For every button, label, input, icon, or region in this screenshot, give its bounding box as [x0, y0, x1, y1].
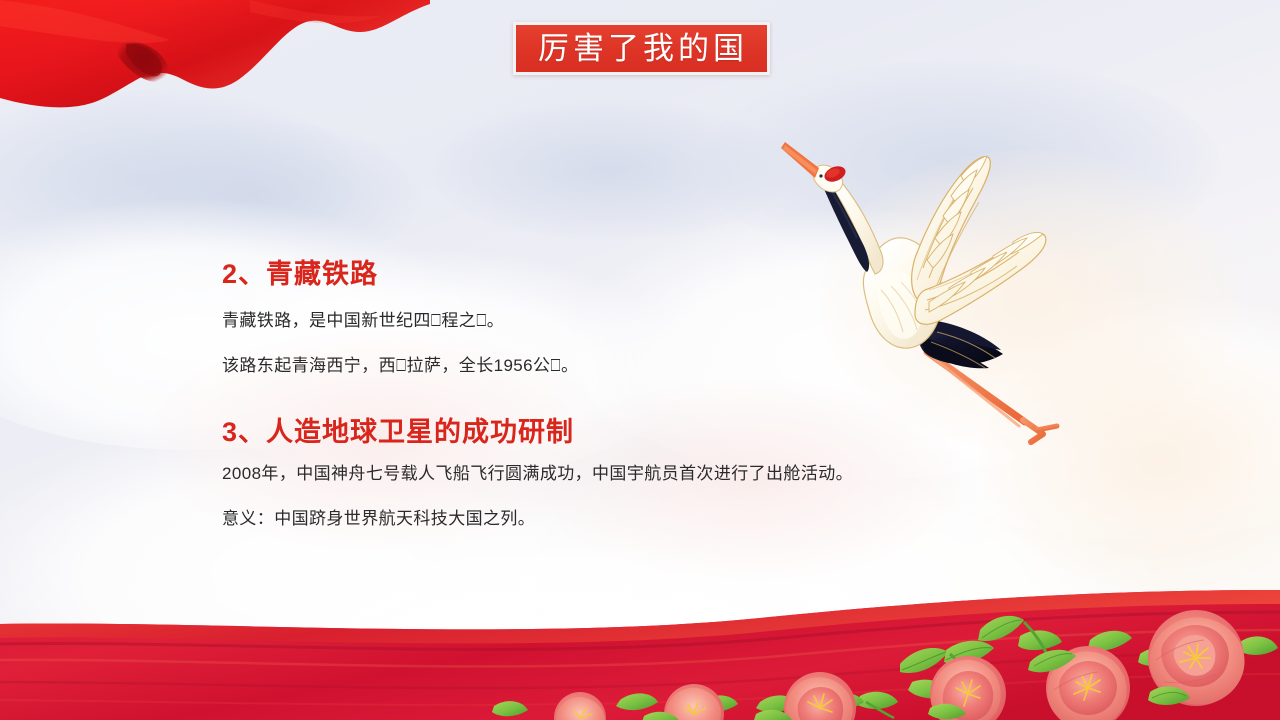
section-3-paragraph-1: 2008年，中国神舟七号载人飞船飞行圆满成功，中国宇航员首次进行了出舱活动。	[222, 463, 1062, 486]
red-ribbon-band	[0, 590, 1280, 720]
slide-title-plate: 厉害了我的国	[513, 22, 770, 75]
cloud-shape	[430, 100, 790, 240]
peony-flower	[1046, 646, 1130, 720]
slide-canvas: 厉害了我的国	[0, 0, 1280, 720]
ribbon-highlight	[0, 590, 1280, 643]
section-2-paragraph-1: 青藏铁路，是中国新世纪四⎕程之⎕。	[222, 310, 1062, 333]
flag-fold-inner	[126, 44, 162, 77]
crane-beak	[781, 142, 819, 178]
section-2-heading: 2、青藏铁路	[222, 258, 1062, 292]
section-3-heading: 3、人造地球卫星的成功研制	[222, 416, 1062, 450]
flag-body	[0, 0, 430, 107]
section-3-paragraph-2: 意义：中国跻身世界航天科技大国之列。	[222, 508, 1062, 531]
crane-head	[781, 142, 848, 192]
peony-flower	[930, 656, 1006, 720]
flag-fold	[118, 41, 168, 82]
peony-flower	[664, 684, 724, 720]
peony-cluster	[492, 610, 1278, 720]
waving-flag-decoration	[0, 0, 430, 120]
peony-flower	[554, 692, 606, 720]
peony-leaves	[492, 616, 1278, 718]
peony-flower	[784, 672, 856, 720]
cloud-shape	[700, 60, 1220, 270]
cloud-shape	[90, 120, 420, 270]
bottom-decoration	[0, 590, 1280, 720]
cloud-shape	[0, 90, 360, 270]
peony-front-leaves	[642, 650, 1190, 720]
crane-red-crown	[822, 163, 848, 184]
slide-content: 2、青藏铁路 青藏铁路，是中国新世纪四⎕程之⎕。 该路东起青海西宁，西⎕拉萨，全…	[222, 258, 1062, 531]
page-title: 厉害了我的国	[535, 33, 748, 64]
cloud-shape	[240, 540, 860, 720]
flag-highlight	[250, 0, 380, 23]
flag-shading	[0, 0, 430, 107]
section-2-paragraph-2: 该路东起青海西宁，西⎕拉萨，全长1956公⎕。	[222, 355, 1062, 378]
peony-flower	[1148, 610, 1245, 706]
flag-highlight	[0, 0, 170, 43]
